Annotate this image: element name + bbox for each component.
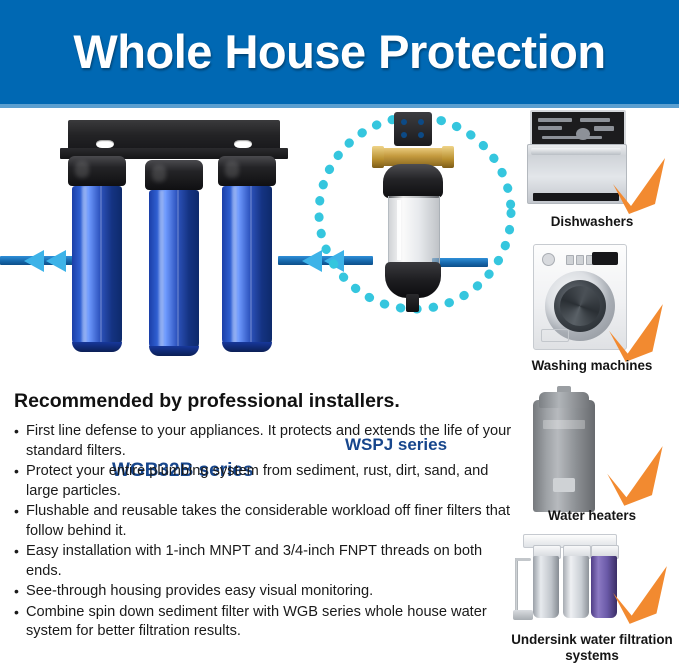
filter-cap xyxy=(218,156,276,186)
list-item: Combine spin down sediment filter with W… xyxy=(14,603,514,642)
appliance-item-dishwasher: Dishwashers xyxy=(505,108,679,242)
filter-housing-3 xyxy=(218,156,276,348)
spin-down-bowl xyxy=(385,262,441,298)
brass-nut-left xyxy=(372,146,384,168)
filter-cap xyxy=(68,156,126,186)
filter-sump xyxy=(72,186,122,348)
filter-housing-2 xyxy=(145,160,203,352)
flush-valve xyxy=(406,294,419,312)
appliance-label: Washing machines xyxy=(505,358,679,374)
appliance-label: Dishwashers xyxy=(505,214,679,230)
clear-housing xyxy=(388,196,440,264)
appliance-label: Undersink water filtration systems xyxy=(505,632,679,664)
product-diagram: WGB32B series WSPJ series xyxy=(0,108,510,378)
water-heater-icon xyxy=(533,386,595,514)
filter-sump-base xyxy=(149,346,199,356)
wspj-bracket-icon xyxy=(394,112,432,146)
spin-down-cap xyxy=(383,164,443,198)
appliance-label: Water heaters xyxy=(505,508,679,524)
list-item: Flushable and reusable takes the conside… xyxy=(14,502,514,541)
list-item: See-through housing provides easy visual… xyxy=(14,582,514,602)
bracket-hole xyxy=(234,140,252,148)
spin-down-filter xyxy=(362,112,462,312)
filter-housing-1 xyxy=(68,156,126,348)
bracket-hole xyxy=(96,140,114,148)
filter-sump xyxy=(149,190,199,352)
benefits-list: First line defense to your appliances. I… xyxy=(14,422,514,642)
header-banner: Whole House Protection xyxy=(0,0,679,104)
benefits-section: Recommended by professional installers. … xyxy=(14,390,514,643)
page-title: Whole House Protection xyxy=(0,22,679,82)
check-mark-icon xyxy=(603,444,669,510)
brass-nut-right xyxy=(442,146,454,168)
undersink-filter-icon xyxy=(513,534,623,630)
appliance-item-washing-machine: Washing machines xyxy=(505,244,679,384)
filter-sump xyxy=(222,186,272,348)
check-mark-icon xyxy=(609,156,671,218)
check-mark-icon xyxy=(605,302,669,366)
compatible-appliances-column: Dishwashers Wa xyxy=(505,108,679,656)
list-item: Protect your entire plumbing system from… xyxy=(14,462,514,501)
list-item: Easy installation with 1-inch MNPT and 3… xyxy=(14,542,514,581)
benefits-heading: Recommended by professional installers. xyxy=(14,390,514,413)
appliance-item-undersink: Undersink water filtration systems xyxy=(505,528,679,656)
filter-sump-base xyxy=(72,342,122,352)
filter-sump-base xyxy=(222,342,272,352)
list-item: First line defense to your appliances. I… xyxy=(14,422,514,461)
check-mark-icon xyxy=(609,564,673,628)
product-infographic: Whole House Protection xyxy=(0,0,679,656)
filter-cap xyxy=(145,160,203,190)
appliance-item-water-heater: Water heaters xyxy=(505,386,679,526)
